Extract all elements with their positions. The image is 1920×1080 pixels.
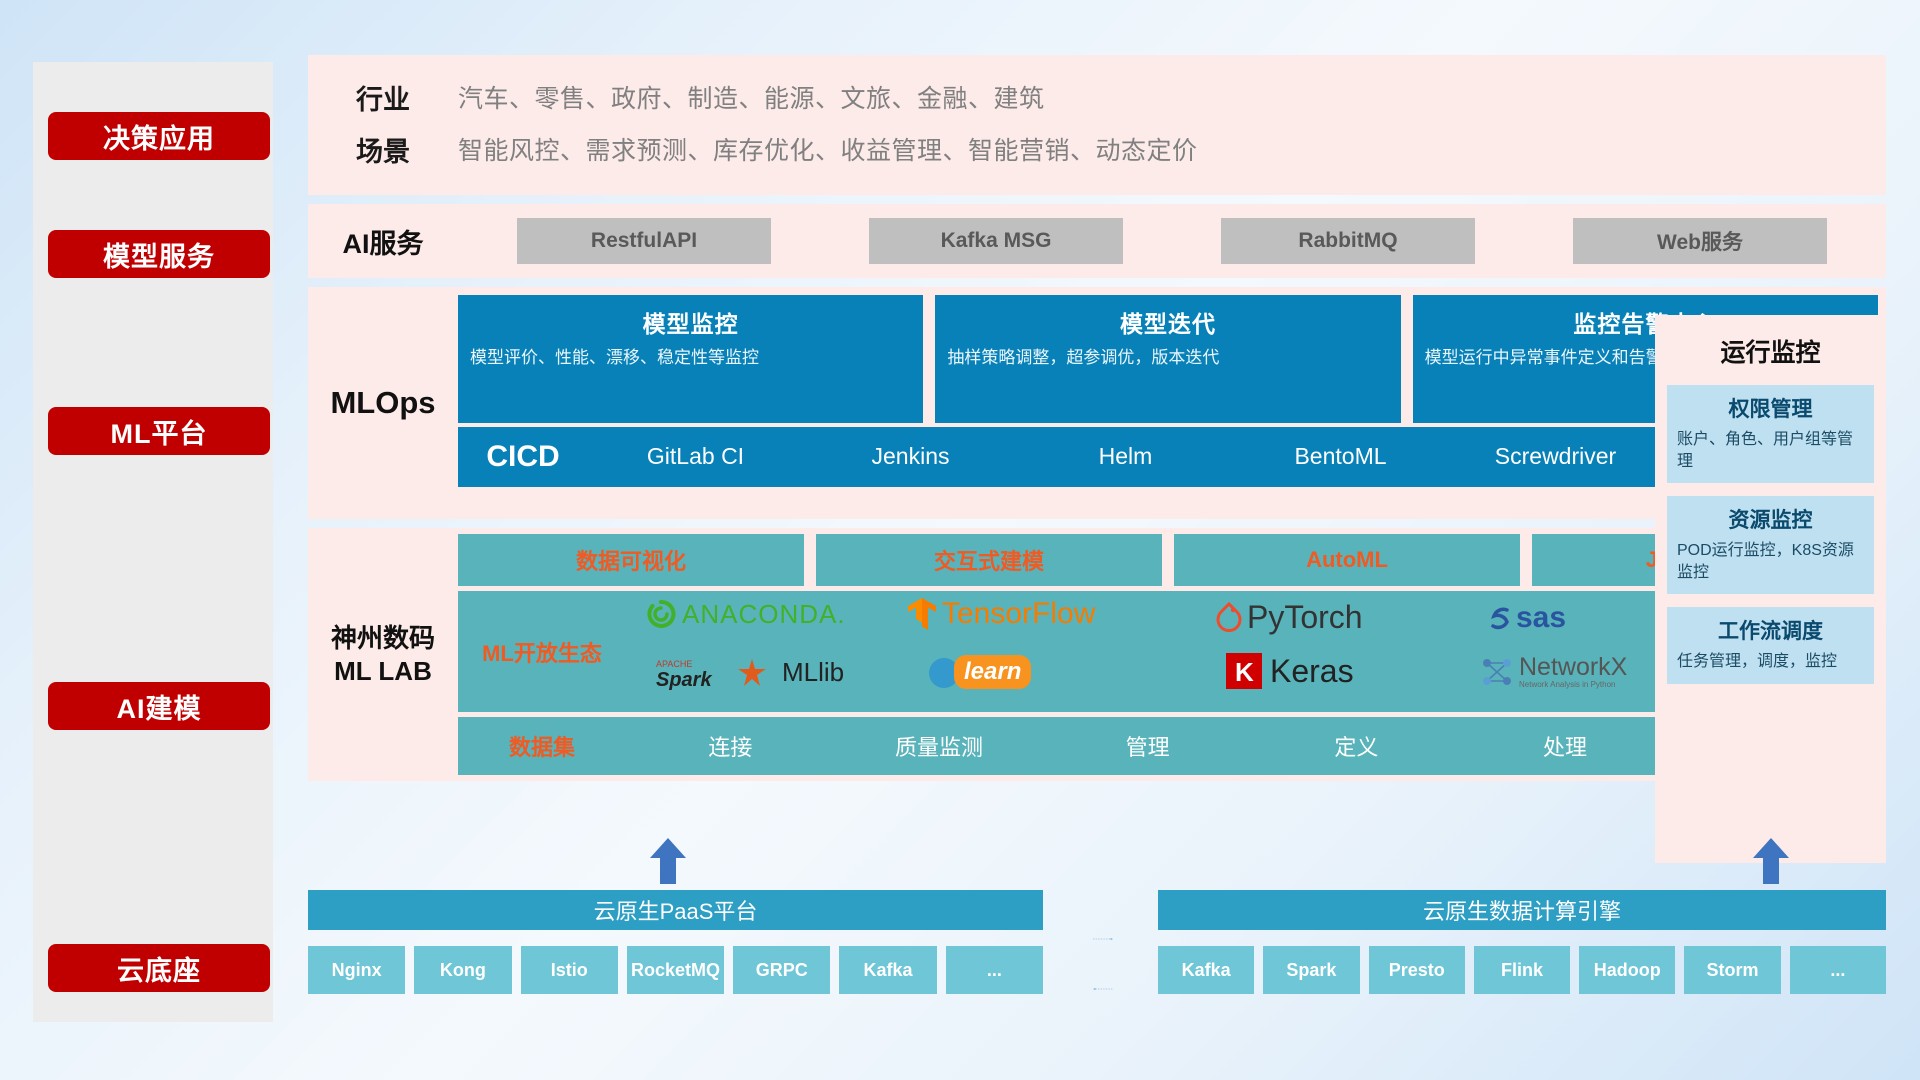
paas-chip-more[interactable]: ... xyxy=(946,946,1043,994)
ml-lab-tab-data-visualization[interactable]: 数据可视化 xyxy=(458,534,804,586)
paas-group: 云原生PaaS平台 Nginx Kong Istio RocketMQ GRPC… xyxy=(308,890,1043,994)
engine-group: 云原生数据计算引擎 Kafka Spark Presto Flink Hadoo… xyxy=(1158,890,1886,994)
service-chip-web-service[interactable]: Web服务 xyxy=(1573,218,1827,264)
engine-chip-presto[interactable]: Presto xyxy=(1369,946,1465,994)
mlops-card-model-iteration[interactable]: 模型迭代 抽样策略调整，超参调优，版本迭代 xyxy=(935,295,1400,423)
paas-chip-nginx[interactable]: Nginx xyxy=(308,946,405,994)
paas-chip-rocketmq[interactable]: RocketMQ xyxy=(627,946,724,994)
industry-row: 行业 汽车、零售、政府、制造、能源、文旅、金融、建筑 xyxy=(308,71,1886,123)
service-chip-label: Kafka MSG xyxy=(941,229,1052,253)
layer-badge-label: 模型服务 xyxy=(103,235,215,274)
service-chip-kafka-msg[interactable]: Kafka MSG xyxy=(869,218,1123,264)
dataset-item-processing[interactable]: 处理 xyxy=(1461,730,1670,762)
right-dashed-arrow-icon xyxy=(1053,938,1153,940)
spark-icon: APACHE Spark xyxy=(656,653,776,693)
sas-logo: sas xyxy=(1486,601,1566,635)
card-title: 模型迭代 xyxy=(947,305,1388,339)
card-title: 模型监控 xyxy=(470,305,911,339)
paas-chip-list: Nginx Kong Istio RocketMQ GRPC Kafka ... xyxy=(308,946,1043,994)
dataset-item-quality-monitoring[interactable]: 质量监测 xyxy=(835,730,1044,762)
layer-badge-label: 云底座 xyxy=(117,949,201,988)
card-title: 资源监控 xyxy=(1677,504,1864,534)
industry-label: 行业 xyxy=(308,78,458,117)
card-desc: 模型评价、性能、漂移、稳定性等监控 xyxy=(470,347,911,370)
ml-lab-label-line2: ML LAB xyxy=(334,655,432,688)
service-chip-label: RestfulAPI xyxy=(591,229,697,253)
ml-lab-label-line1: 神州数码 xyxy=(331,622,435,655)
networkx-wordmark: NetworkX Network Analysis in Python xyxy=(1519,655,1627,689)
cloud-foundation: 云原生PaaS平台 Nginx Kong Istio RocketMQ GRPC… xyxy=(308,890,1886,1050)
engine-chip-list: Kafka Spark Presto Flink Hadoop Storm ..… xyxy=(1158,946,1886,994)
run-monitor-rail: 运行监控 权限管理 账户、角色、用户组等管理 资源监控 POD运行监控，K8S资… xyxy=(1655,315,1886,863)
layer-badge-label: 决策应用 xyxy=(103,117,215,156)
dataset-item-management[interactable]: 管理 xyxy=(1043,730,1252,762)
industry-value: 汽车、零售、政府、制造、能源、文旅、金融、建筑 xyxy=(458,79,1045,115)
card-title: 工作流调度 xyxy=(1677,615,1864,645)
scikit-learn-logo: learn xyxy=(926,653,1031,691)
cicd-item-helm[interactable]: Helm xyxy=(1018,444,1233,469)
monitor-card-resource[interactable]: 资源监控 POD运行监控，K8S资源监控 xyxy=(1667,496,1874,594)
svg-text:Spark: Spark xyxy=(656,669,712,691)
networkx-icon xyxy=(1481,655,1515,689)
layer-badge-ai-modeling[interactable]: AI建模 xyxy=(48,682,270,730)
engine-chip-spark[interactable]: Spark xyxy=(1263,946,1359,994)
scenario-row: 场景 智能风控、需求预测、库存优化、收益管理、智能营销、动态定价 xyxy=(308,123,1886,175)
svg-text:APACHE: APACHE xyxy=(656,659,692,669)
main-stack: 行业 汽车、零售、政府、制造、能源、文旅、金融、建筑 场景 智能风控、需求预测、… xyxy=(308,55,1886,781)
networkx-logo: NetworkX Network Analysis in Python xyxy=(1481,655,1627,689)
applications-band: 行业 汽车、零售、政府、制造、能源、文旅、金融、建筑 场景 智能风控、需求预测、… xyxy=(308,55,1886,195)
spark-mllib-label: MLlib xyxy=(782,657,844,688)
ai-services-label: AI服务 xyxy=(308,222,458,261)
card-desc: 账户、角色、用户组等管理 xyxy=(1677,429,1864,472)
sas-label: sas xyxy=(1516,601,1566,635)
mlops-card-model-monitoring[interactable]: 模型监控 模型评价、性能、漂移、稳定性等监控 xyxy=(458,295,923,423)
up-arrow-paas-icon xyxy=(648,838,688,884)
paas-title: 云原生PaaS平台 xyxy=(594,894,758,926)
left-dashed-arrow-icon xyxy=(1053,988,1153,990)
networkx-tagline: Network Analysis in Python xyxy=(1519,680,1627,689)
cicd-item-screwdriver[interactable]: Screwdriver xyxy=(1448,444,1663,469)
layer-badge-label: ML平台 xyxy=(111,412,208,451)
anaconda-label: ANACONDA. xyxy=(682,599,846,630)
scenario-value: 智能风控、需求预测、库存优化、收益管理、智能营销、动态定价 xyxy=(458,131,1198,167)
service-chip-label: RabbitMQ xyxy=(1298,229,1397,253)
ml-lab-tab-automl[interactable]: AutoML xyxy=(1174,534,1520,586)
anaconda-icon xyxy=(646,599,676,629)
service-chip-rabbitmq[interactable]: RabbitMQ xyxy=(1221,218,1475,264)
paas-chip-grpc[interactable]: GRPC xyxy=(733,946,830,994)
tensorflow-logo: TensorFlow xyxy=(906,597,1095,631)
engine-title: 云原生数据计算引擎 xyxy=(1423,894,1621,926)
paas-chip-kong[interactable]: Kong xyxy=(414,946,511,994)
engine-chip-kafka[interactable]: Kafka xyxy=(1158,946,1254,994)
dataset-item-definition[interactable]: 定义 xyxy=(1252,730,1461,762)
cicd-title: CICD xyxy=(458,440,588,474)
paas-chip-istio[interactable]: Istio xyxy=(521,946,618,994)
networkx-label: NetworkX xyxy=(1519,655,1627,680)
layer-rail xyxy=(33,62,273,1022)
layer-badge-decision-app[interactable]: 决策应用 xyxy=(48,112,270,160)
scenario-label: 场景 xyxy=(308,130,458,169)
paas-title-bar: 云原生PaaS平台 xyxy=(308,890,1043,930)
card-desc: POD运行监控，K8S资源监控 xyxy=(1677,540,1864,583)
card-desc: 任务管理，调度，监控 xyxy=(1677,651,1864,673)
architecture-diagram: 决策应用 模型服务 ML平台 AI建模 云底座 行业 汽车、零售、政府、制造、能… xyxy=(0,0,1920,1080)
engine-chip-flink[interactable]: Flink xyxy=(1474,946,1570,994)
pytorch-logo: PyTorch xyxy=(1216,599,1363,636)
dataset-label: 数据集 xyxy=(458,730,626,762)
sas-icon xyxy=(1486,604,1514,632)
engine-title-bar: 云原生数据计算引擎 xyxy=(1158,890,1886,930)
run-monitor-title: 运行监控 xyxy=(1667,333,1874,369)
pytorch-icon xyxy=(1216,602,1242,632)
mlops-label: MLOps xyxy=(308,287,458,519)
cicd-item-bentoml[interactable]: BentoML xyxy=(1233,444,1448,469)
keras-icon: K xyxy=(1226,653,1262,689)
engine-chip-hadoop[interactable]: Hadoop xyxy=(1579,946,1675,994)
ml-lab-label: 神州数码 ML LAB xyxy=(308,528,458,781)
ai-services-band: AI服务 RestfulAPI Kafka MSG RabbitMQ Web服务 xyxy=(308,204,1886,278)
layer-badge-cloud-base[interactable]: 云底座 xyxy=(48,944,270,992)
svg-text:K: K xyxy=(1235,657,1254,687)
scikit-learn-label: learn xyxy=(964,658,1021,685)
card-desc: 抽样策略调整，超参调优，版本迭代 xyxy=(947,347,1388,370)
spark-mllib-logo: APACHE Spark MLlib xyxy=(656,653,844,693)
ml-lab-band: 神州数码 ML LAB 数据可视化 交互式建模 AutoML JupyterLa… xyxy=(308,528,1886,781)
keras-logo: K Keras xyxy=(1226,653,1354,690)
service-chip-label: Web服务 xyxy=(1657,226,1743,256)
anaconda-logo: ANACONDA. xyxy=(646,599,846,630)
dataset-item-connect[interactable]: 连接 xyxy=(626,730,835,762)
cicd-item-gitlab-ci[interactable]: GitLab CI xyxy=(588,444,803,469)
ml-ecosystem-label: ML开放生态 xyxy=(458,636,626,668)
card-title: 权限管理 xyxy=(1677,393,1864,423)
up-arrow-engine-icon xyxy=(1751,838,1791,884)
monitor-card-permission[interactable]: 权限管理 账户、角色、用户组等管理 xyxy=(1667,385,1874,483)
mlops-band: MLOps 模型监控 模型评价、性能、漂移、稳定性等监控 模型迭代 抽样策略调整… xyxy=(308,287,1886,519)
layer-badge-model-service[interactable]: 模型服务 xyxy=(48,230,270,278)
layer-badge-ml-platform[interactable]: ML平台 xyxy=(48,407,270,455)
engine-chip-more[interactable]: ... xyxy=(1790,946,1886,994)
cicd-item-jenkins[interactable]: Jenkins xyxy=(803,444,1018,469)
tensorflow-label: TensorFlow xyxy=(942,597,1095,631)
service-chip-restfulapi[interactable]: RestfulAPI xyxy=(517,218,771,264)
engine-chip-storm[interactable]: Storm xyxy=(1684,946,1780,994)
ai-services-list: RestfulAPI Kafka MSG RabbitMQ Web服务 xyxy=(458,218,1886,264)
layer-badge-label: AI建模 xyxy=(117,687,202,726)
pytorch-label: PyTorch xyxy=(1247,599,1363,636)
keras-label: Keras xyxy=(1270,653,1354,690)
paas-chip-kafka[interactable]: Kafka xyxy=(839,946,936,994)
scikit-learn-wordmark: learn xyxy=(954,655,1031,689)
ml-lab-tab-interactive-modeling[interactable]: 交互式建模 xyxy=(816,534,1162,586)
monitor-card-workflow[interactable]: 工作流调度 任务管理，调度，监控 xyxy=(1667,607,1874,684)
tensorflow-icon xyxy=(906,597,938,631)
